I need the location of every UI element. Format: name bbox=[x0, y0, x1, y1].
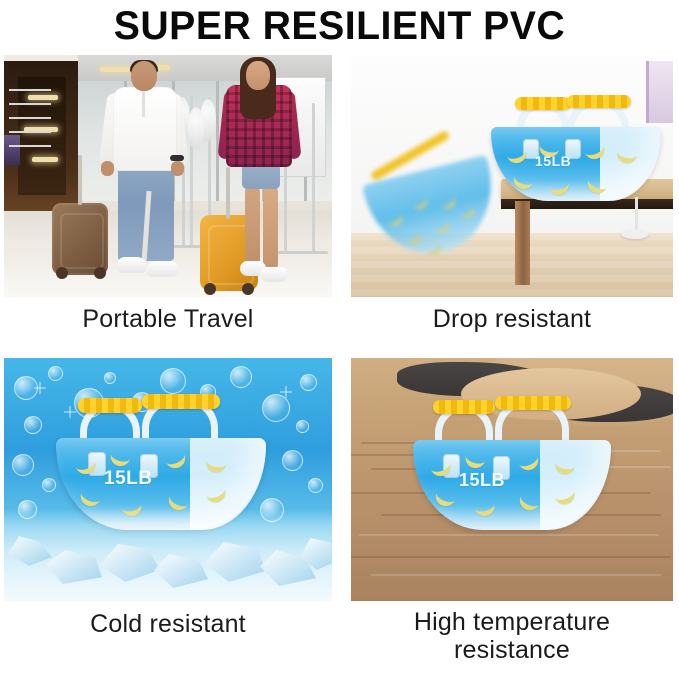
person-man-traveler bbox=[99, 61, 191, 289]
weight-label: 15LB bbox=[459, 470, 505, 491]
panel-high-temperature-resistance: 15LB High temperature resistance bbox=[351, 358, 673, 668]
panel-cold-resistant: 15LB Cold resistant bbox=[4, 358, 332, 668]
panel-drop-resistant: 15LB Drop resistant bbox=[351, 55, 673, 350]
caption-drop-resistant: Drop resistant bbox=[351, 305, 673, 333]
photo-airport-terminal bbox=[4, 55, 332, 297]
photo-drop-test: 15LB bbox=[351, 55, 673, 297]
caption-line-1: High temperature bbox=[351, 608, 673, 636]
photo-cold-test: 15LB bbox=[4, 358, 332, 601]
photo-desert-test: 15LB bbox=[351, 358, 673, 601]
caption-cold-resistant: Cold resistant bbox=[4, 610, 332, 638]
caption-portable-travel: Portable Travel bbox=[4, 305, 332, 333]
water-bag-on-sand: 15LB bbox=[413, 396, 611, 530]
page-title: SUPER RESILIENT PVC bbox=[7, 0, 672, 52]
weight-label: 15LB bbox=[104, 468, 152, 490]
person-woman-traveler bbox=[220, 57, 306, 291]
product-feature-infographic: SUPER RESILIENT PVC bbox=[0, 0, 679, 675]
caption-high-temperature-resistance: High temperature resistance bbox=[351, 608, 673, 664]
weight-label: 15LB bbox=[535, 153, 571, 169]
caption-line-2: resistance bbox=[351, 636, 673, 664]
panel-portable-travel: Portable Travel bbox=[4, 55, 332, 350]
water-bag-on-table: 15LB bbox=[491, 97, 661, 205]
